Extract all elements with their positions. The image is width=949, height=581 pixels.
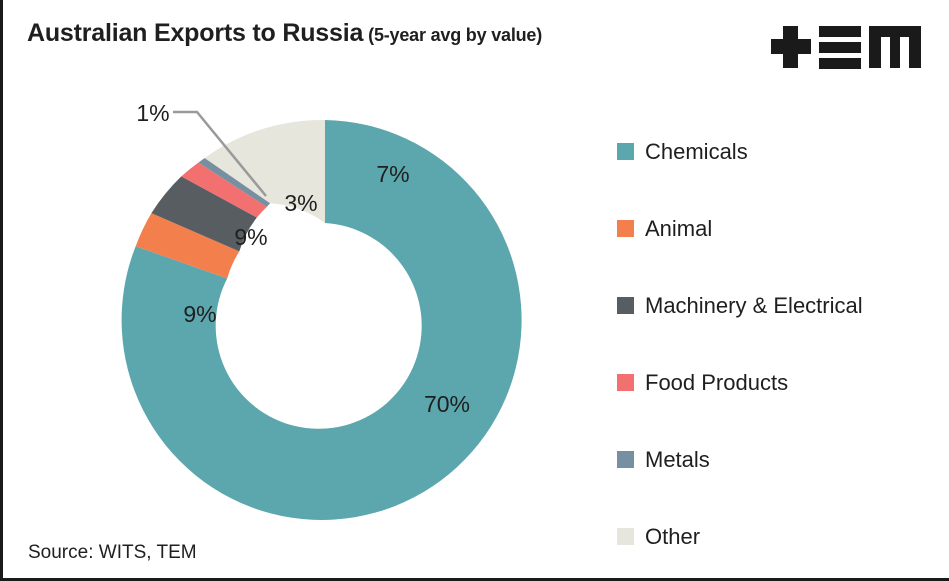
legend-label: Metals bbox=[645, 447, 710, 473]
chart-legend: Chemicals Animal Machinery & Electrical … bbox=[617, 113, 937, 575]
legend-item-chemicals[interactable]: Chemicals bbox=[617, 113, 937, 190]
legend-label: Chemicals bbox=[645, 139, 748, 165]
legend-swatch-icon bbox=[617, 220, 634, 237]
chart-subtitle: (5-year avg by value) bbox=[368, 25, 542, 45]
legend-swatch-icon bbox=[617, 374, 634, 391]
slice-label-animal: 9% bbox=[183, 301, 216, 327]
slice-label-other: 7% bbox=[376, 161, 409, 187]
legend-item-metals[interactable]: Metals bbox=[617, 421, 937, 498]
donut-chart: 70% 9% 9% 3% 1% 7% bbox=[113, 100, 553, 540]
legend-item-machinery-electrical[interactable]: Machinery & Electrical bbox=[617, 267, 937, 344]
legend-swatch-icon bbox=[617, 528, 634, 545]
donut-svg: 70% 9% 9% 3% 1% 7% bbox=[113, 100, 553, 540]
legend-label: Other bbox=[645, 524, 700, 550]
slice-label-machinery: 9% bbox=[234, 224, 267, 250]
legend-item-animal[interactable]: Animal bbox=[617, 190, 937, 267]
legend-swatch-icon bbox=[617, 143, 634, 160]
legend-label: Food Products bbox=[645, 370, 788, 396]
legend-item-food-products[interactable]: Food Products bbox=[617, 344, 937, 421]
legend-label: Animal bbox=[645, 216, 712, 242]
chart-title: Australian Exports to Russia bbox=[27, 19, 363, 47]
slice-label-chemicals: 70% bbox=[424, 391, 470, 417]
slice-label-metals: 1% bbox=[136, 100, 169, 126]
page-title: Australian Exports to Russia(5-year avg … bbox=[27, 19, 542, 48]
legend-item-other[interactable]: Other bbox=[617, 498, 937, 575]
chart-figure: Australian Exports to Russia(5-year avg … bbox=[0, 0, 949, 581]
legend-swatch-icon bbox=[617, 451, 634, 468]
slice-label-food-products: 3% bbox=[284, 190, 317, 216]
legend-swatch-icon bbox=[617, 297, 634, 314]
tem-logo-icon bbox=[771, 18, 921, 76]
source-note: Source: WITS, TEM bbox=[28, 542, 197, 564]
legend-label: Machinery & Electrical bbox=[645, 293, 863, 319]
